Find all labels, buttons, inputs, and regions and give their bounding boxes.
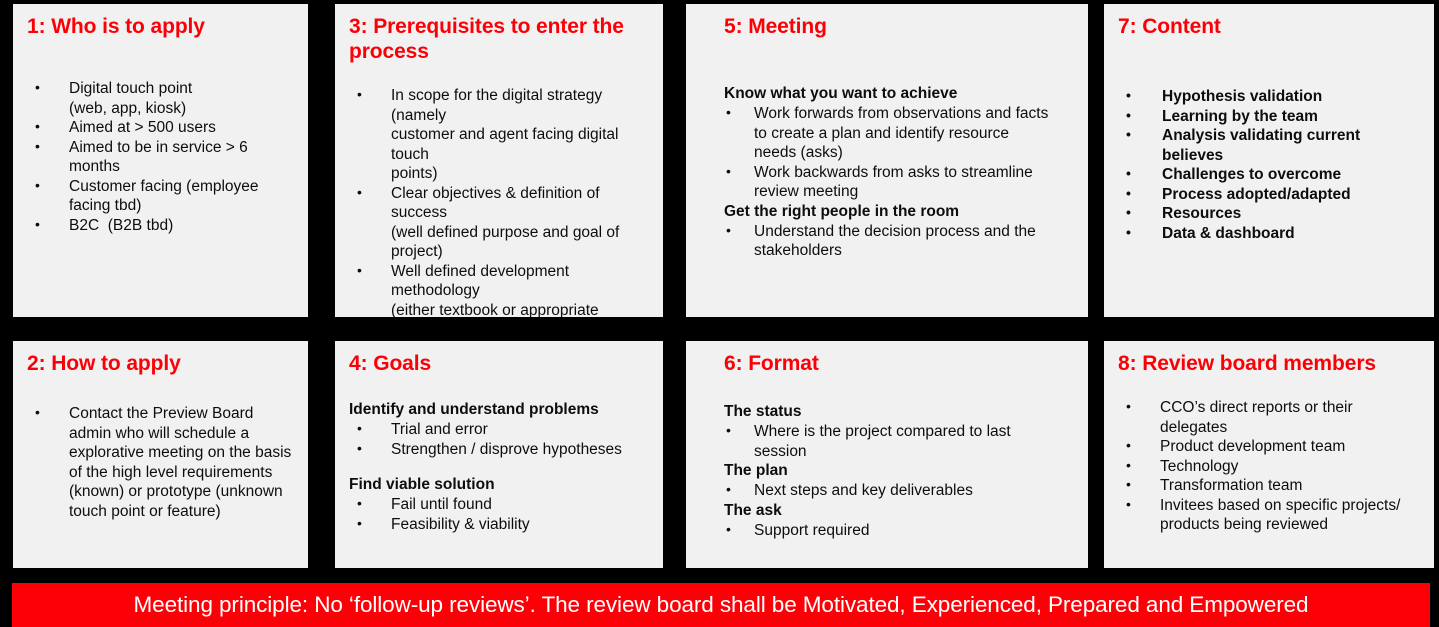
- panel-format: 6: Format The statusWhere is the project…: [686, 341, 1088, 568]
- panel-title: 4: Goals: [349, 351, 657, 376]
- panel-title: 2: How to apply: [27, 351, 298, 376]
- bullet-item: Aimed to be in service > 6 months: [27, 138, 298, 177]
- panel-content: 7: Content Hypothesis validationLearning…: [1104, 4, 1434, 317]
- bullet-list: Contact the Preview Board admin who will…: [27, 404, 298, 521]
- bullet-list: Fail until foundFeasibility & viability: [349, 495, 657, 534]
- panel-title: 6: Format: [724, 351, 1078, 376]
- panel-subheading: The ask: [724, 501, 1078, 521]
- bullet-item: Hypothesis validation: [1118, 87, 1424, 107]
- bullet-item: Product development team: [1118, 437, 1424, 457]
- bullet-item: Learning by the team: [1118, 107, 1424, 127]
- panel-body: Know what you want to achieveWork forwar…: [724, 84, 1078, 261]
- banner-text: Meeting principle: No ‘follow-up reviews…: [134, 592, 1309, 618]
- bullet-item: Data & dashboard: [1118, 224, 1424, 244]
- panel-subheading: Know what you want to achieve: [724, 84, 1078, 104]
- bullet-item: Where is the project compared to last se…: [724, 422, 1078, 461]
- panel-title: 1: Who is to apply: [27, 14, 298, 39]
- bullet-list: Understand the decision process and the …: [724, 222, 1078, 261]
- bullet-item: Strengthen / disprove hypotheses: [349, 440, 657, 460]
- bullet-list: CCO’s direct reports or their delegatesP…: [1118, 398, 1424, 535]
- bullet-item: Resources: [1118, 204, 1424, 224]
- bullet-list: Hypothesis validationLearning by the tea…: [1118, 87, 1424, 243]
- panel-subheading: Get the right people in the room: [724, 202, 1078, 222]
- panel-subheading: Find viable solution: [349, 475, 657, 495]
- bullet-list: Support required: [724, 521, 1078, 541]
- panel-review-board-members: 8: Review board members CCO’s direct rep…: [1104, 341, 1434, 568]
- bullet-item: Process adopted/adapted: [1118, 185, 1424, 205]
- panel-title: 8: Review board members: [1118, 351, 1424, 376]
- bullet-item: Customer facing (employee facing tbd): [27, 177, 298, 216]
- bullet-list: Digital touch point (web, app, kiosk)Aim…: [27, 79, 298, 235]
- bullet-item: CCO’s direct reports or their delegates: [1118, 398, 1424, 437]
- panel-body: Contact the Preview Board admin who will…: [27, 404, 298, 521]
- bullet-item: Technology: [1118, 457, 1424, 477]
- panel-who-is-to-apply: 1: Who is to apply Digital touch point (…: [13, 4, 308, 317]
- bullet-item: Support required: [724, 521, 1078, 541]
- panel-body: CCO’s direct reports or their delegatesP…: [1118, 398, 1424, 535]
- bullet-item: Well defined development methodology (ei…: [349, 262, 657, 318]
- bullet-item: Feasibility & viability: [349, 515, 657, 535]
- panel-prerequisites-to-enter-the-process: 3: Prerequisites to enter the process In…: [335, 4, 663, 317]
- slide-canvas: 1: Who is to apply Digital touch point (…: [0, 0, 1439, 627]
- bullet-list: Where is the project compared to last se…: [724, 422, 1078, 461]
- bullet-item: Analysis validating current believes: [1118, 126, 1424, 165]
- bullet-item: Understand the decision process and the …: [724, 222, 1078, 261]
- panel-how-to-apply: 2: How to apply Contact the Preview Boar…: [13, 341, 308, 568]
- panel-subheading: The plan: [724, 461, 1078, 481]
- bullet-list: Work forwards from observations and fact…: [724, 104, 1078, 202]
- bullet-item: Trial and error: [349, 420, 657, 440]
- bullet-item: Transformation team: [1118, 476, 1424, 496]
- bullet-item: Work backwards from asks to streamline r…: [724, 163, 1078, 202]
- meeting-principle-banner: Meeting principle: No ‘follow-up reviews…: [12, 583, 1430, 627]
- panel-title: 5: Meeting: [724, 14, 1078, 39]
- bullet-list: Next steps and key deliverables: [724, 481, 1078, 501]
- bullet-list: Trial and errorStrengthen / disprove hyp…: [349, 420, 657, 459]
- bullet-item: Challenges to overcome: [1118, 165, 1424, 185]
- bullet-item: Next steps and key deliverables: [724, 481, 1078, 501]
- bullet-item: B2C (B2B tbd): [27, 216, 298, 236]
- panel-body: Hypothesis validationLearning by the tea…: [1118, 87, 1424, 243]
- bullet-item: Fail until found: [349, 495, 657, 515]
- panel-body: In scope for the digital strategy (namel…: [349, 86, 657, 317]
- panel-meeting: 5: Meeting Know what you want to achieve…: [686, 4, 1088, 317]
- bullet-item: Clear objectives & definition of success…: [349, 184, 657, 262]
- panel-body: Identify and understand problemsTrial an…: [349, 400, 657, 534]
- bullet-item: Invitees based on specific projects/ pro…: [1118, 496, 1424, 535]
- panel-body: The statusWhere is the project compared …: [724, 402, 1078, 540]
- bullet-item: Digital touch point (web, app, kiosk): [27, 79, 298, 118]
- panel-title: 7: Content: [1118, 14, 1424, 39]
- panel-subheading: The status: [724, 402, 1078, 422]
- bullet-item: Contact the Preview Board admin who will…: [27, 404, 298, 521]
- bullet-item: In scope for the digital strategy (namel…: [349, 86, 657, 184]
- bullet-item: Aimed at > 500 users: [27, 118, 298, 138]
- panel-goals: 4: Goals Identify and understand problem…: [335, 341, 663, 568]
- bullet-item: Work forwards from observations and fact…: [724, 104, 1078, 163]
- panel-title: 3: Prerequisites to enter the process: [349, 14, 657, 64]
- bullet-list: In scope for the digital strategy (namel…: [349, 86, 657, 317]
- panel-subheading: Identify and understand problems: [349, 400, 657, 420]
- panel-body: Digital touch point (web, app, kiosk)Aim…: [27, 79, 298, 235]
